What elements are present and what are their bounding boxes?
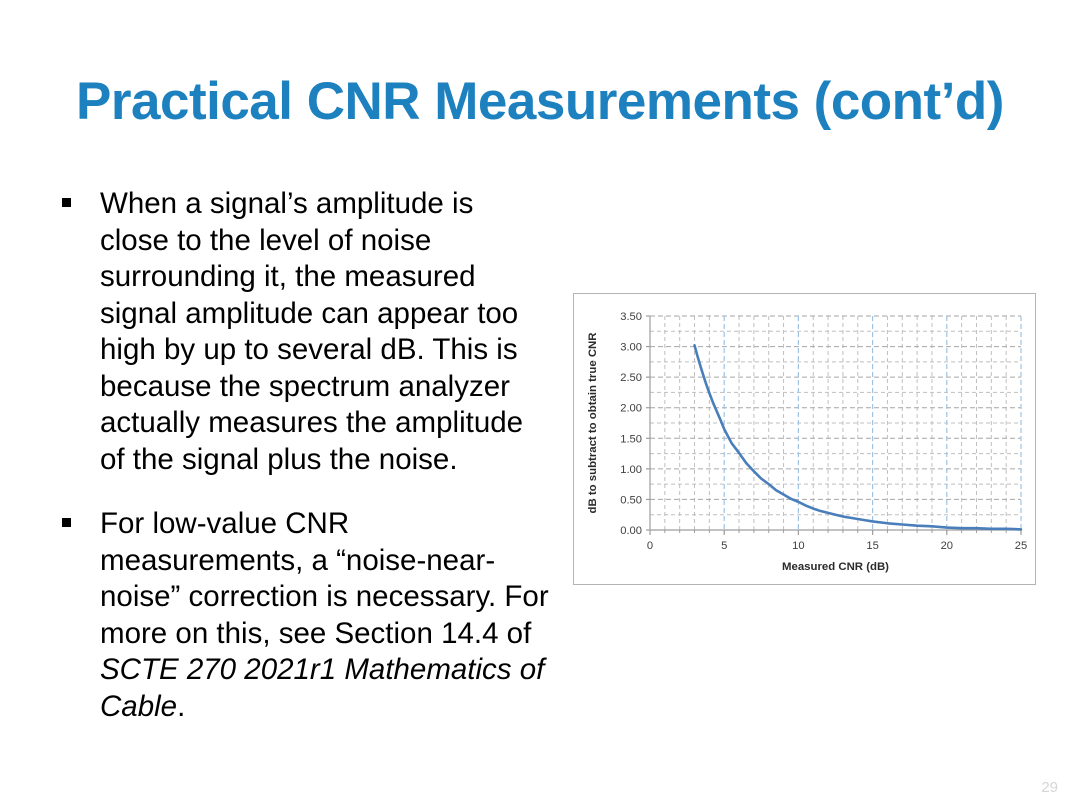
page-number: 29 (1041, 779, 1058, 796)
y-axis-title: dB to subtract to obtain true CNR (587, 333, 599, 514)
bullet-signal-amplitude: When a signal’s amplitude is close to th… (58, 186, 550, 478)
ytick-label: 0.00 (620, 525, 642, 537)
ytick-label: 2.50 (620, 372, 642, 384)
xtick-label: 10 (792, 540, 804, 552)
ytick-label: 3.00 (620, 342, 642, 354)
bullet-text-segment: For low-value CNR measurements, a “noise… (100, 507, 549, 650)
bullet-noise-near-noise: For low-value CNR measurements, a “noise… (58, 506, 550, 725)
bullet-text-segment: When a signal’s amplitude is close to th… (100, 187, 523, 476)
bullet-text: For low-value CNR measurements, a “noise… (100, 506, 550, 725)
page-title: Practical CNR Measurements (cont’d) (60, 62, 1020, 142)
bullet-text-segment: . (177, 690, 185, 723)
bullet-text-italic-segment: SCTE 270 2021r1 Mathematics of Cable (100, 653, 544, 723)
xtick-label: 15 (866, 540, 878, 552)
ytick-label: 3.50 (620, 311, 642, 323)
bullet-text: When a signal’s amplitude is close to th… (100, 186, 550, 478)
ytick-label: 0.50 (620, 494, 642, 506)
body-text-block: When a signal’s amplitude is close to th… (58, 186, 550, 753)
ytick-label: 2.00 (620, 403, 642, 415)
x-axis-title: Measured CNR (dB) (782, 561, 889, 573)
ytick-label: 1.00 (620, 464, 642, 476)
xtick-label: 5 (721, 540, 727, 552)
xtick-label: 25 (1015, 540, 1027, 552)
xtick-label: 0 (647, 540, 653, 552)
cnr-correction-chart: 0.000.501.001.502.002.503.003.5005101520… (573, 293, 1036, 585)
ytick-label: 1.50 (620, 433, 642, 445)
bullet-square-icon (58, 186, 100, 223)
chart-canvas: 0.000.501.001.502.002.503.003.5005101520… (574, 294, 1035, 584)
xtick-label: 20 (941, 540, 953, 552)
bullet-square-icon (58, 506, 100, 543)
